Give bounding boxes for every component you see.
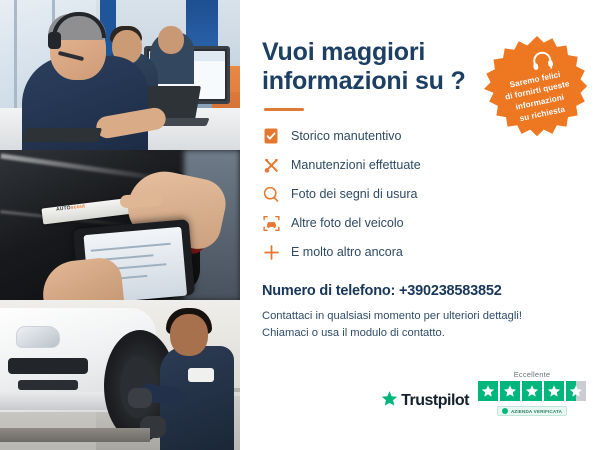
star-icon	[544, 381, 564, 401]
trustpilot-brand: Trustpilot	[401, 392, 469, 410]
feature-label: Foto dei segni di usura	[291, 187, 417, 201]
content-panel: Vuoi maggiori informazioni su ? Storico …	[240, 0, 600, 450]
rating-label: Eccellente	[514, 370, 551, 379]
contact-subtext-line-2: Chiamaci o usa il modulo di contatto.	[262, 327, 445, 339]
trustpilot-widget[interactable]: Trustpilot Eccellente AZIENDA VERIFICATA	[381, 370, 586, 416]
vehicle-lift-arm	[0, 428, 150, 442]
mechanic-head	[170, 314, 208, 356]
trustpilot-rating-block: Eccellente AZIENDA VERIFICATA	[478, 370, 586, 416]
person-head	[158, 26, 184, 54]
trustpilot-logo[interactable]: Trustpilot	[381, 390, 469, 416]
call-center-agents-photo	[0, 0, 240, 150]
feature-label: E molto altro ancora	[291, 245, 403, 259]
headline-line-1: Vuoi maggiori	[262, 38, 425, 66]
star-rating	[478, 381, 586, 401]
agent-headset-cup	[48, 32, 61, 49]
checkbox-checked-icon	[262, 127, 280, 145]
star-icon	[500, 381, 520, 401]
photo-strip: AUTOscout	[0, 0, 240, 450]
badge-text: Saremo felici di fornirti queste informa…	[489, 64, 589, 129]
uniform-logo-patch	[188, 368, 214, 382]
title-divider	[264, 108, 304, 111]
lower-grille	[18, 380, 78, 390]
star-icon	[381, 390, 398, 412]
list-item: Altre foto del veicolo	[262, 212, 582, 234]
contact-subtext-line-1: Contattaci in qualsiasi momento per ulte…	[262, 310, 522, 322]
promo-banner: AUTOscout	[0, 0, 600, 450]
list-item: E molto altro ancora	[262, 241, 582, 263]
check-icon	[502, 408, 508, 414]
verified-label: AZIENDA VERIFICATA	[511, 409, 562, 414]
status-badge: Saremo felici di fornirti queste informa…	[482, 34, 592, 144]
star-icon	[478, 381, 498, 401]
headline-line-2: informazioni su ?	[262, 67, 466, 95]
phone-number: Numero di telefono: +390238583852	[262, 283, 582, 299]
star-half-icon	[566, 381, 586, 401]
headlamp	[16, 326, 60, 348]
tools-crossed-icon	[262, 156, 280, 174]
plus-icon	[262, 243, 280, 261]
star-icon	[522, 381, 542, 401]
keyboard	[22, 128, 102, 142]
list-item: Manutenzioni effettuate	[262, 154, 582, 176]
mechanic-glove	[128, 388, 152, 408]
feature-label: Altre foto del veicolo	[291, 216, 404, 230]
feature-label: Storico manutentivo	[291, 129, 401, 143]
tablet-vehicle-inspection-photo: AUTOscout	[0, 150, 240, 300]
magnifier-icon	[262, 185, 280, 203]
front-grille	[8, 358, 88, 374]
list-item: Foto dei segni di usura	[262, 183, 582, 205]
verified-badge: AZIENDA VERIFICATA	[497, 406, 567, 416]
page-title: Vuoi maggiori informazioni su ?	[262, 38, 472, 96]
contact-subtext: Contattaci in qualsiasi momento per ulte…	[262, 308, 552, 342]
mechanic-tyre-inspection-photo	[0, 300, 240, 450]
car-frame-icon	[262, 214, 280, 232]
feature-label: Manutenzioni effettuate	[291, 158, 421, 172]
